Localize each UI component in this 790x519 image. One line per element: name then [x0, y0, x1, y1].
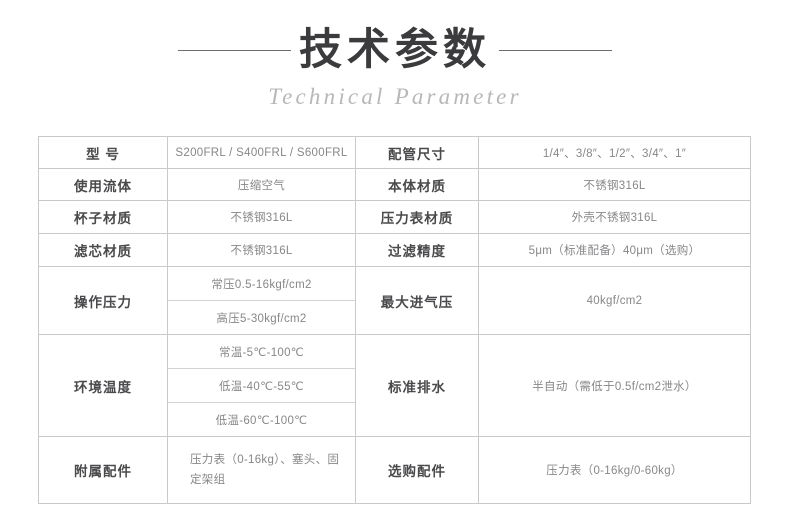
table-row: 操作压力 常压0.5-16kgf/cm2 高压5-30kgf/cm2 — [39, 267, 751, 335]
operating-pressure-normal: 常压0.5-16kgf/cm2 — [168, 267, 355, 301]
row-label-ambient-temperature: 环境温度 — [39, 335, 168, 437]
row-value-model: S200FRL / S400FRL / S600FRL — [168, 137, 356, 169]
spec-table: 型 号 S200FRL / S400FRL / S600FRL 配管尺寸 1/4… — [38, 136, 751, 504]
row-label-gauge-material: 压力表材质 — [356, 201, 479, 234]
row-label-max-inlet-pressure: 最大进气压 — [356, 267, 479, 335]
row-label-body-material: 本体材质 — [356, 169, 479, 201]
table-row: 型 号 S200FRL / S400FRL / S600FRL 配管尺寸 1/4… — [39, 137, 751, 169]
sub-row: 高压5-30kgf/cm2 — [168, 301, 355, 335]
row-value-filtration: 5μm（标准配备）40μm（选购） — [479, 234, 751, 267]
row-value-element-material: 不锈钢316L — [168, 234, 356, 267]
row-label-included-accessories: 附属配件 — [39, 437, 168, 504]
row-value-gauge-material: 外壳不锈钢316L — [479, 201, 751, 234]
row-label-filtration: 过滤精度 — [356, 234, 479, 267]
row-label-bowl-material: 杯子材质 — [39, 201, 168, 234]
row-value-body-material: 不锈钢316L — [479, 169, 751, 201]
page-title: 技术参数 — [297, 29, 493, 72]
sub-row: 常温-5℃-100℃ — [168, 335, 355, 369]
operating-pressure-high: 高压5-30kgf/cm2 — [168, 301, 355, 335]
row-label-pipe-size: 配管尺寸 — [356, 137, 479, 169]
row-label-operating-pressure: 操作压力 — [39, 267, 168, 335]
title-row: 技术参数 — [0, 22, 790, 78]
row-label-model: 型 号 — [39, 137, 168, 169]
table-row: 环境温度 常温-5℃-100℃ 低温-40℃-55℃ 低温-60℃-100℃ — [39, 335, 751, 437]
title-rule-right — [499, 50, 612, 51]
row-value-ambient-temperature: 常温-5℃-100℃ 低温-40℃-55℃ 低温-60℃-100℃ — [168, 335, 356, 437]
row-value-optional-accessories: 压力表（0-16kg/0-60kg） — [479, 437, 751, 504]
operating-pressure-subtable: 常压0.5-16kgf/cm2 高压5-30kgf/cm2 — [168, 267, 355, 334]
row-value-pipe-size: 1/4″、3/8″、1/2″、3/4″、1″ — [479, 137, 751, 169]
sub-row: 常压0.5-16kgf/cm2 — [168, 267, 355, 301]
row-value-included-accessories: 压力表（0-16kg）、塞头、固定架组 — [168, 437, 356, 504]
row-label-standard-drain: 标准排水 — [356, 335, 479, 437]
row-value-bowl-material: 不锈钢316L — [168, 201, 356, 234]
ambient-temperature-normal: 常温-5℃-100℃ — [168, 335, 355, 369]
row-value-fluid: 压缩空气 — [168, 169, 356, 201]
sub-row: 低温-40℃-55℃ — [168, 369, 355, 403]
spec-sheet-page: 技术参数 Technical Parameter 型 号 S200FRL / S… — [0, 0, 790, 519]
table-row: 滤芯材质 不锈钢316L 过滤精度 5μm（标准配备）40μm（选购） — [39, 234, 751, 267]
table-row: 杯子材质 不锈钢316L 压力表材质 外壳不锈钢316L — [39, 201, 751, 234]
row-value-operating-pressure: 常压0.5-16kgf/cm2 高压5-30kgf/cm2 — [168, 267, 356, 335]
row-label-fluid: 使用流体 — [39, 169, 168, 201]
row-value-max-inlet-pressure: 40kgf/cm2 — [479, 267, 751, 335]
row-label-optional-accessories: 选购配件 — [356, 437, 479, 504]
title-rule-left — [178, 50, 291, 51]
page-subtitle: Technical Parameter — [0, 84, 790, 110]
row-value-standard-drain: 半自动（需低于0.5f/cm2泄水） — [479, 335, 751, 437]
table-row: 使用流体 压缩空气 本体材质 不锈钢316L — [39, 169, 751, 201]
ambient-temperature-low-2: 低温-60℃-100℃ — [168, 403, 355, 437]
ambient-temperature-low-1: 低温-40℃-55℃ — [168, 369, 355, 403]
table-row: 附属配件 压力表（0-16kg）、塞头、固定架组 选购配件 压力表（0-16kg… — [39, 437, 751, 504]
page-header: 技术参数 Technical Parameter — [0, 0, 790, 128]
sub-row: 低温-60℃-100℃ — [168, 403, 355, 437]
ambient-temperature-subtable: 常温-5℃-100℃ 低温-40℃-55℃ 低温-60℃-100℃ — [168, 335, 355, 436]
row-label-element-material: 滤芯材质 — [39, 234, 168, 267]
